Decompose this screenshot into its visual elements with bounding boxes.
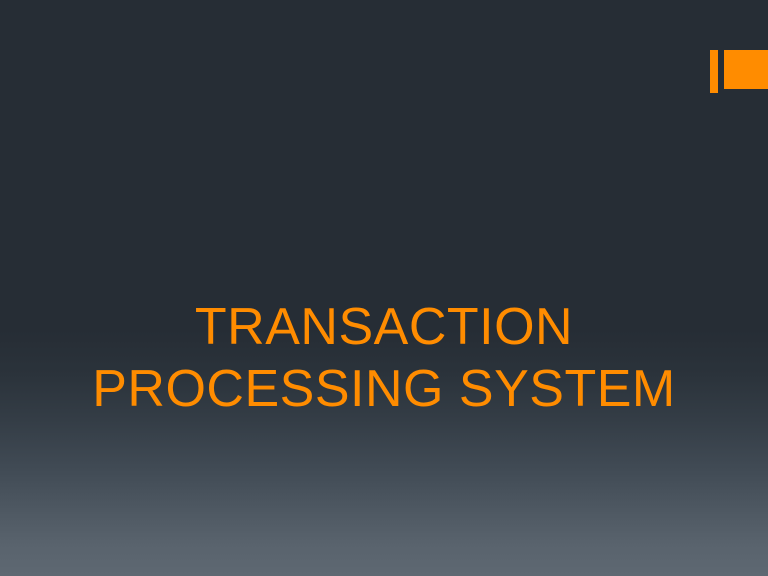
title-line-1: TRANSACTION [0,296,768,358]
accent-block-icon [724,50,768,89]
title-slide: TRANSACTION PROCESSING SYSTEM [0,0,768,576]
accent-bar-icon [710,50,718,93]
title-line-2: PROCESSING SYSTEM [0,358,768,420]
page-title: TRANSACTION PROCESSING SYSTEM [0,296,768,420]
orange-accent-mark [688,0,768,120]
